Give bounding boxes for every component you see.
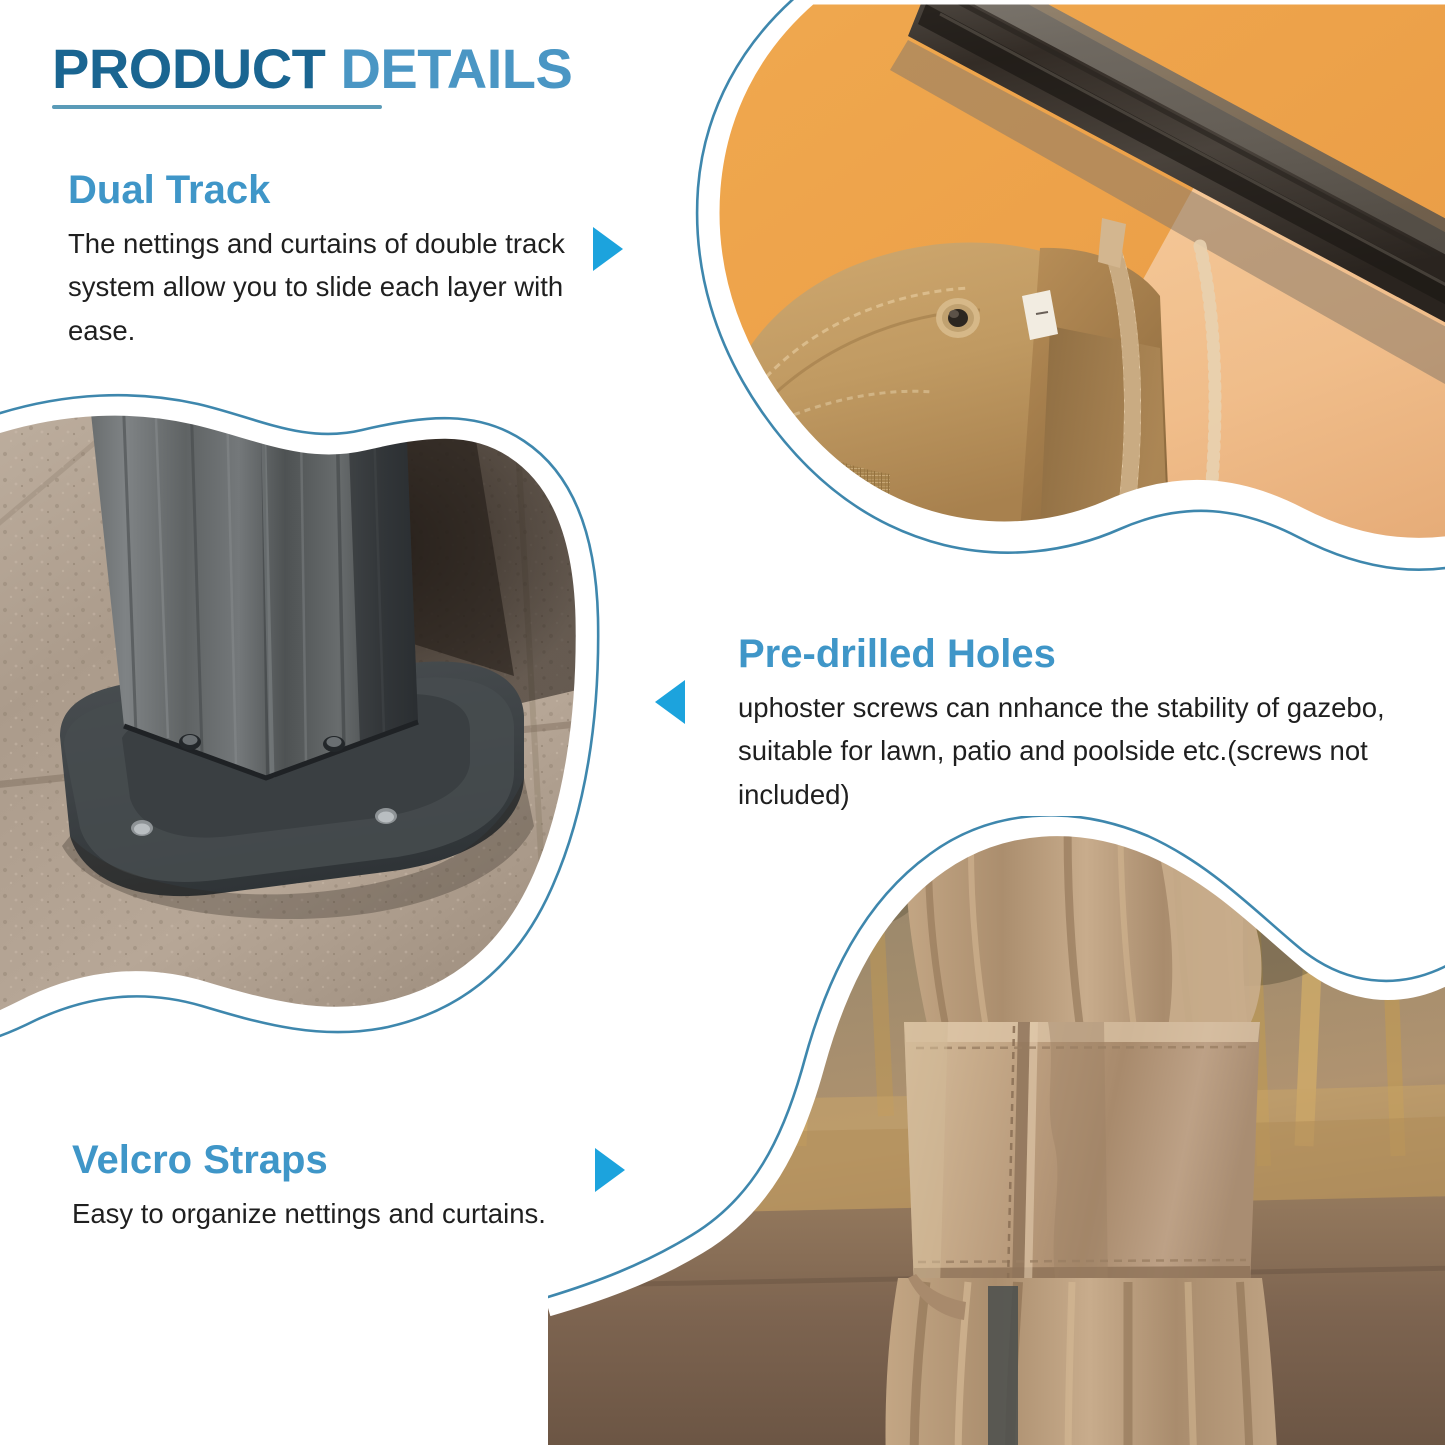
photo-velcro-straps	[548, 816, 1445, 1445]
page-title: PRODUCT DETAILS	[52, 40, 752, 99]
photo-dual-track	[640, 0, 1445, 648]
page-title-primary: PRODUCT	[52, 37, 325, 100]
feature-dual-track: Dual Track The nettings and curtains of …	[68, 168, 588, 352]
feature-velcro-straps: Velcro Straps Easy to organize nettings …	[72, 1138, 632, 1235]
title-underline-rule	[52, 105, 382, 109]
arrow-left-icon	[655, 680, 685, 724]
feature-pre-drilled-holes: Pre-drilled Holes uphoster screws can nn…	[738, 632, 1388, 816]
page-title-secondary: DETAILS	[325, 37, 572, 100]
feature-pre-drilled-holes-heading: Pre-drilled Holes	[738, 632, 1388, 676]
page-header: PRODUCT DETAILS	[52, 40, 752, 109]
feature-dual-track-body: The nettings and curtains of double trac…	[68, 222, 588, 352]
arrow-right-icon	[593, 227, 623, 271]
feature-velcro-straps-heading: Velcro Straps	[72, 1138, 632, 1182]
feature-dual-track-heading: Dual Track	[68, 168, 588, 212]
photo-pre-drilled-holes	[0, 386, 644, 1086]
product-details-infographic: PRODUCT DETAILS Dual Track The nettings …	[0, 0, 1445, 1445]
feature-velcro-straps-body: Easy to organize nettings and curtains.	[72, 1192, 632, 1235]
feature-pre-drilled-holes-body: uphoster screws can nnhance the stabilit…	[738, 686, 1388, 816]
arrow-right-icon	[595, 1148, 625, 1192]
